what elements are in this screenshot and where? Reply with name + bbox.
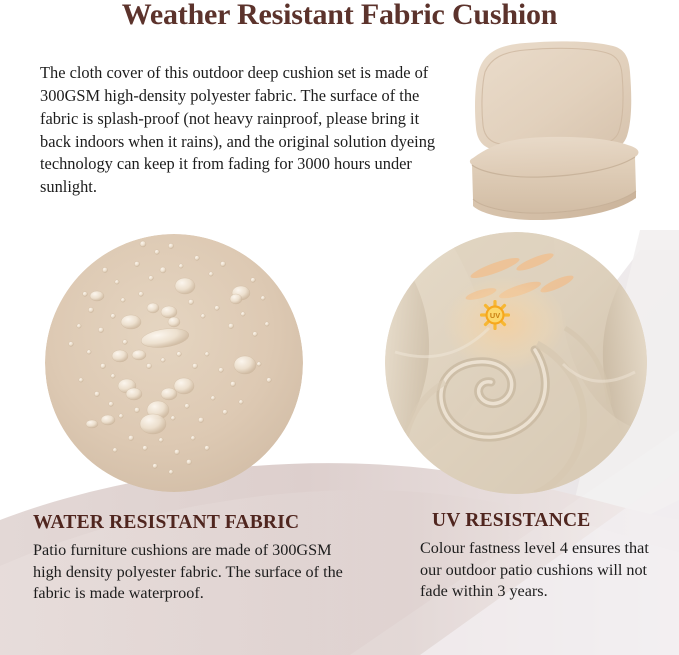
water-resistant-image [45,234,303,492]
feature-water-resistant: WATER RESISTANT FABRIC Patio furniture c… [33,512,353,605]
infographic-page: Weather Resistant Fabric Cushion The clo… [0,0,679,655]
feature-uv-body: Colour fastness level 4 ensures that our… [420,538,670,603]
uv-resistance-image: UV [385,232,647,494]
product-cushion-image [455,36,675,220]
feature-uv-resistance: UV RESISTANCE Colour fastness level 4 en… [420,510,670,603]
feature-water-heading: WATER RESISTANT FABRIC [33,512,353,534]
svg-text:UV: UV [490,311,500,320]
intro-paragraph: The cloth cover of this outdoor deep cus… [40,62,450,198]
page-title: Weather Resistant Fabric Cushion [0,0,679,32]
uv-sun-badge: UV [480,300,510,330]
feature-water-body: Patio furniture cushions are made of 300… [33,540,353,605]
feature-uv-heading: UV RESISTANCE [420,510,670,532]
